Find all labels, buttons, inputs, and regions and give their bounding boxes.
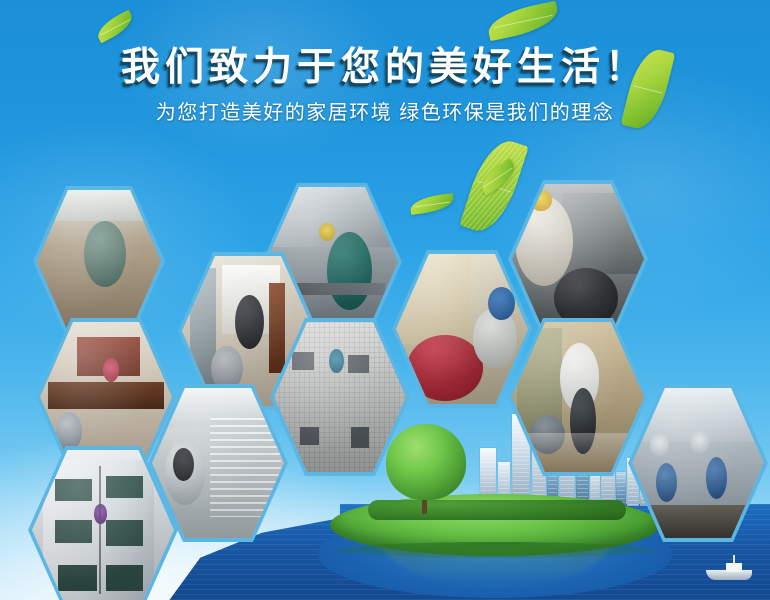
tree-crown-icon xyxy=(386,424,466,500)
leaf-mid-center-fern-icon xyxy=(459,134,529,238)
leaf-blade xyxy=(409,193,455,215)
photo-sheen xyxy=(512,322,644,472)
hex-photo-surface xyxy=(274,322,406,472)
photo-sheen xyxy=(274,322,406,472)
hex-photo-surface xyxy=(37,190,161,332)
hex-photo-surface xyxy=(632,388,764,538)
hex-photo-tiling-worker[interactable] xyxy=(33,186,165,336)
promo-banner: 我们致力于您的美好生活！ 为您打造美好的家居环境 绿色环保是我们的理念 xyxy=(0,0,770,600)
hex-photo-surface xyxy=(512,184,644,334)
leaf-vein xyxy=(484,168,512,188)
leaf-mid-left-small-icon xyxy=(409,193,455,215)
leaf-vein xyxy=(414,201,451,207)
island-hedge xyxy=(368,500,626,520)
boat-icon xyxy=(706,554,752,580)
leaf-vein xyxy=(477,181,511,193)
leaf-vein xyxy=(100,19,130,36)
photo-sheen xyxy=(37,190,161,332)
leaf-blade xyxy=(459,134,529,238)
boat-cabin xyxy=(726,563,742,572)
hex-photo-surface xyxy=(396,254,528,404)
leaf-vein xyxy=(493,15,552,29)
page-subtitle: 为您打造美好的家居环境 绿色环保是我们的理念 xyxy=(0,96,770,125)
leaf-blade xyxy=(476,158,519,195)
photo-sheen xyxy=(396,254,528,404)
photo-sheen xyxy=(512,184,644,334)
hex-photo-surface xyxy=(152,388,284,538)
photo-sheen xyxy=(632,388,764,538)
photo-sheen xyxy=(152,388,284,538)
page-title: 我们致力于您的美好生活！ xyxy=(0,36,770,92)
hex-photo-kitchen-degrease[interactable] xyxy=(508,180,648,338)
boat-mast xyxy=(733,555,735,564)
hex-photo-interior-protect[interactable] xyxy=(392,250,532,408)
leaf-left-of-hexes-icon xyxy=(476,158,519,195)
hex-photo-surface xyxy=(512,322,644,472)
